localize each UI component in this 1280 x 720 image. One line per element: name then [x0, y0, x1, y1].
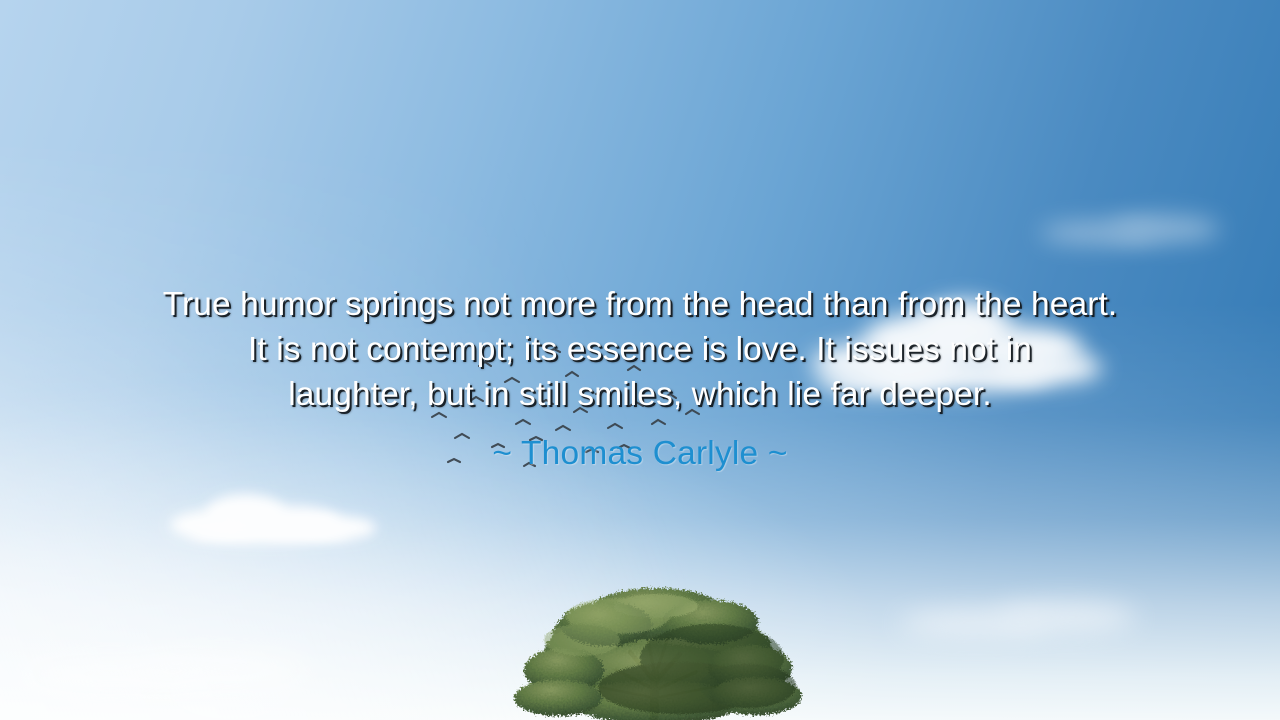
quote-text: True humor springs not more from the hea… [0, 282, 1280, 417]
quote-block: True humor springs not more from the hea… [0, 282, 1280, 476]
quote-image-canvas: True humor springs not more from the hea… [0, 0, 1280, 720]
oak-tree [498, 578, 818, 720]
quote-author: ~ Thomas Carlyle ~ [0, 431, 1280, 476]
